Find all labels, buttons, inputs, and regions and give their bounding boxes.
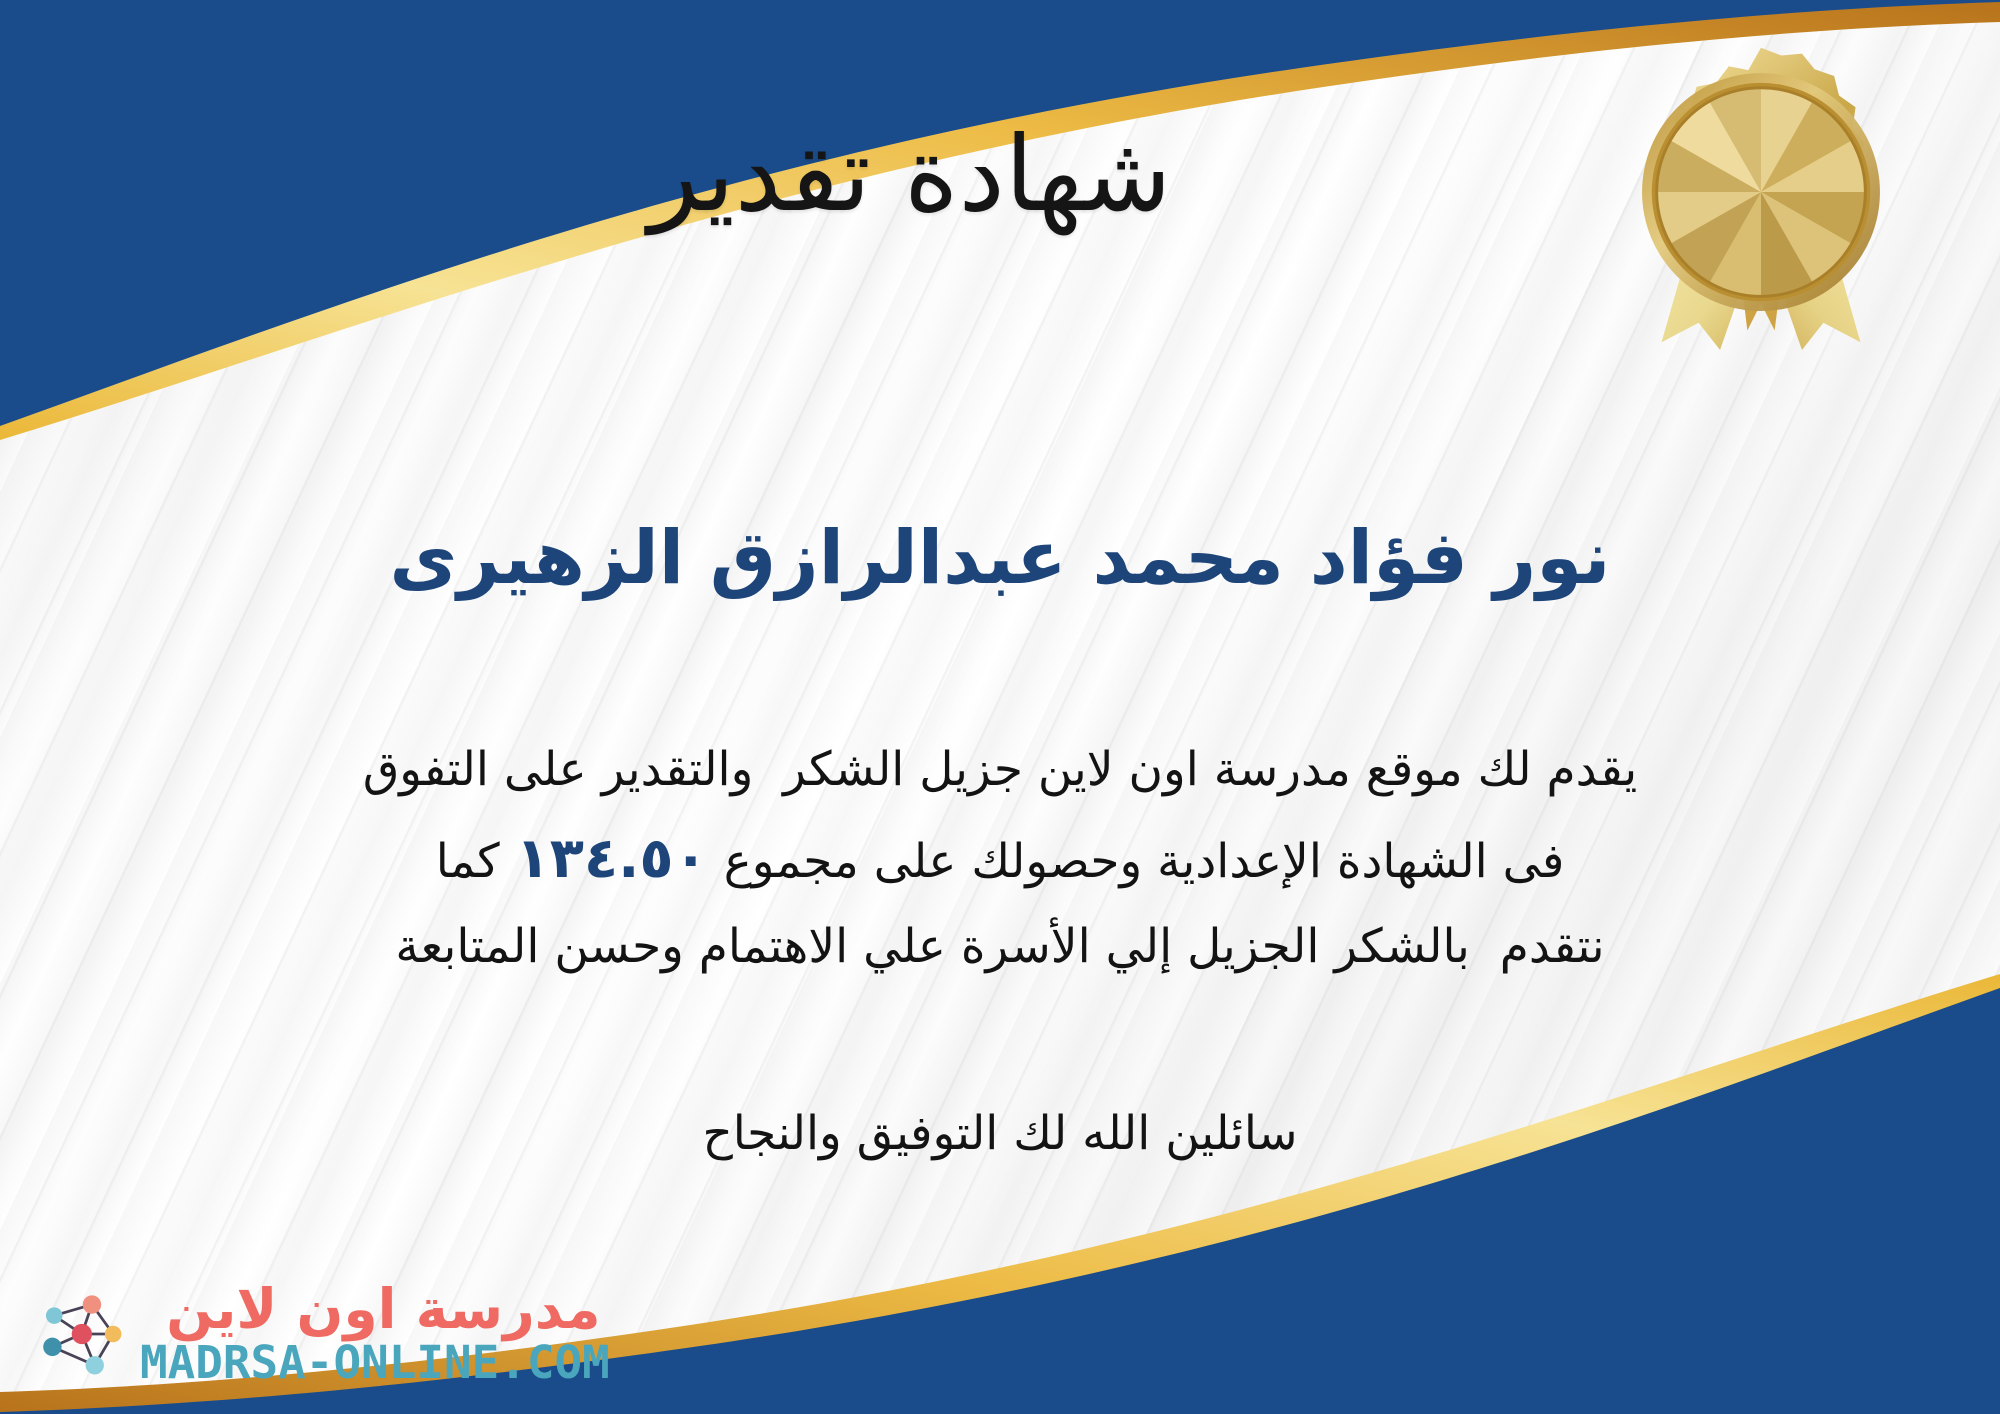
brand-logo[interactable]: مدرسة اون لاين MADRSA-ONLINE.COM — [34, 1281, 601, 1386]
certificate-page: شهادة تقدير نور فؤاد محمد عبدالرازق الزه… — [0, 0, 2000, 1414]
body-line-1: يقدم لك موقع مدرسة اون لاين جزيل الشكر و… — [60, 730, 1940, 811]
grade-total-value: ١٣٤.٥٠ — [500, 826, 724, 891]
brand-text: مدرسة اون لاين MADRSA-ONLINE.COM — [140, 1281, 601, 1386]
brand-website-url: MADRSA-ONLINE.COM — [140, 1339, 610, 1386]
body-line-2-prefix: فى الشهادة الإعدادية وحصولك على مجموع — [724, 834, 1565, 889]
body-line-3: نتقدم بالشكر الجزيل إلي الأسرة علي الاهت… — [60, 907, 1940, 988]
brand-arabic-name: مدرسة اون لاين — [166, 1281, 600, 1339]
certificate-title: شهادة تقدير — [0, 118, 2000, 230]
network-nodes-icon — [34, 1288, 126, 1380]
closing-wish-line: سائلين الله لك التوفيق والنجاح — [0, 1096, 2000, 1171]
certificate-content: شهادة تقدير نور فؤاد محمد عبدالرازق الزه… — [0, 0, 2000, 1414]
recipient-name: نور فؤاد محمد عبدالرازق الزهيرى — [0, 512, 2000, 605]
body-line-2: فى الشهادة الإعدادية وحصولك على مجموع١٣٤… — [60, 811, 1940, 907]
body-line-2-suffix: كما — [436, 834, 500, 889]
certificate-body: يقدم لك موقع مدرسة اون لاين جزيل الشكر و… — [60, 730, 1940, 988]
